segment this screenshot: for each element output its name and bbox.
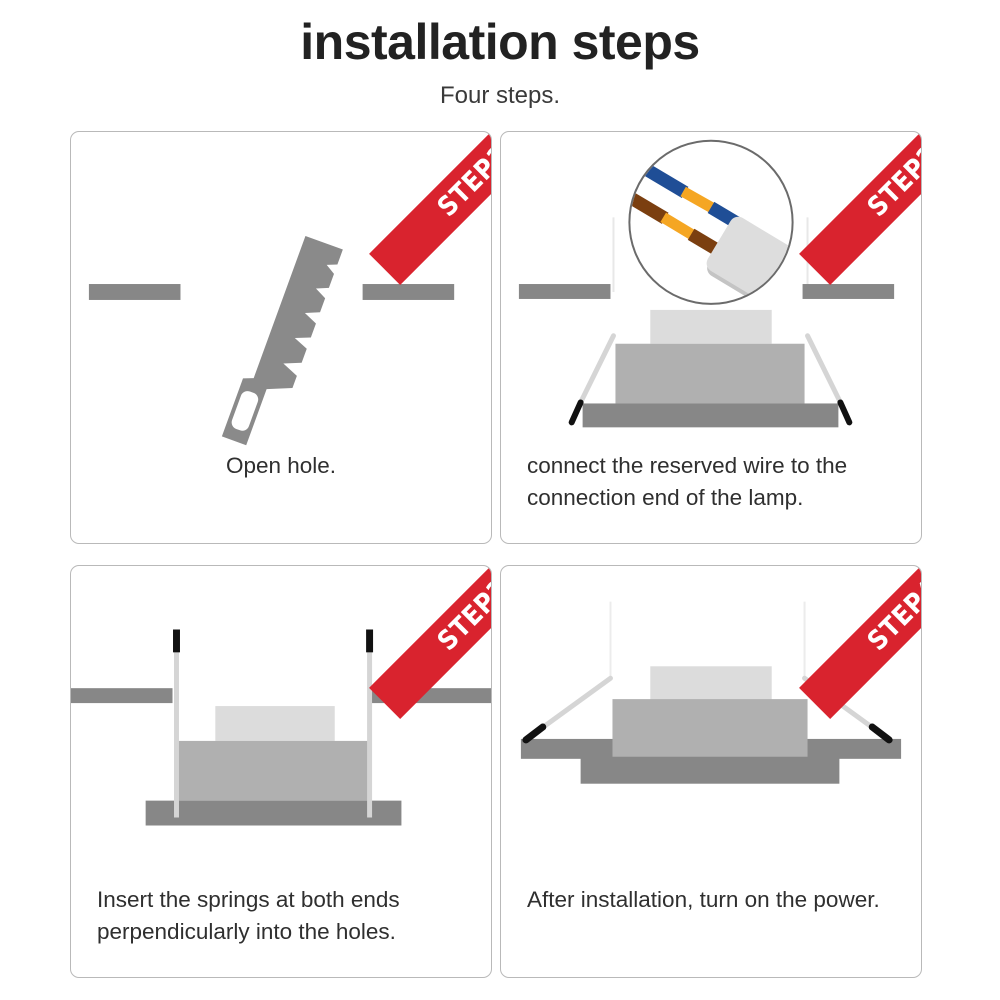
step-3-caption: Insert the springs at both ends perpendi… <box>71 884 491 948</box>
step-1-illustration <box>71 132 491 447</box>
lamp-trim-ring <box>581 757 840 784</box>
step-1-caption: Open hole. <box>71 450 491 482</box>
step-card-1: Open hole. STEP1 <box>70 131 492 544</box>
lamp-base-plate <box>583 403 839 427</box>
step-card-2: connect the reserved wire to the connect… <box>500 131 922 544</box>
lamp-body <box>178 741 367 801</box>
step-2-illustration <box>501 132 921 447</box>
step-card-3: Insert the springs at both ends perpendi… <box>70 565 492 978</box>
ceiling-left <box>71 688 173 703</box>
magnifier-circle <box>629 141 792 304</box>
spring-left <box>526 678 611 740</box>
ceiling-left <box>89 284 181 300</box>
lamp-top-box <box>215 706 334 741</box>
lamp-top-box <box>650 666 771 701</box>
page-title: installation steps <box>0 14 1000 72</box>
ceiling-left <box>519 284 611 299</box>
lamp-body <box>612 699 807 757</box>
lamp-body <box>615 344 804 404</box>
step-4-caption: After installation, turn on the power. <box>501 884 921 916</box>
step-3-illustration <box>71 566 491 881</box>
ceiling-right <box>370 688 491 703</box>
ceiling-right <box>803 284 895 299</box>
page-subtitle: Four steps. <box>0 82 1000 110</box>
installation-steps-infographic: installation steps Four steps. Open hole… <box>0 0 1000 1000</box>
step-4-illustration <box>501 566 921 881</box>
lamp-top-box <box>650 310 771 344</box>
lamp-base-plate <box>146 801 402 826</box>
ceiling-right <box>363 284 455 300</box>
spring-right <box>805 678 890 740</box>
step-card-4: After installation, turn on the power. S… <box>500 565 922 978</box>
saw-icon <box>222 233 343 447</box>
step-2-caption: connect the reserved wire to the connect… <box>501 450 921 514</box>
